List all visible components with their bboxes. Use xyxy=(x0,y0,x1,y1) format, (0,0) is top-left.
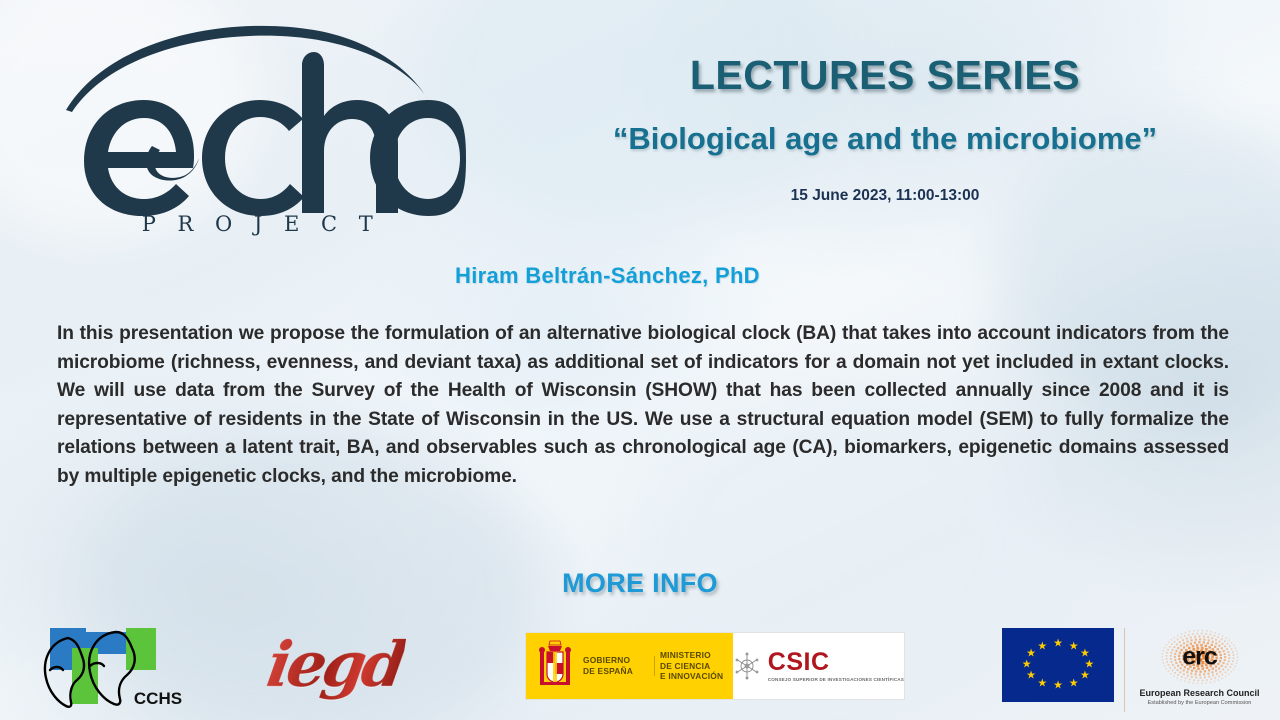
ministerio-line2: DE CIENCIA xyxy=(660,661,723,672)
erc-dot-burst-icon: erc xyxy=(1154,628,1246,686)
csic-title: CSIC xyxy=(768,650,904,675)
erc-block: erc European Research Council Establishe… xyxy=(1135,628,1264,706)
ministerio-line3: E INNOVACIÓN xyxy=(660,671,723,682)
gobierno-line1: GOBIERNO xyxy=(583,655,654,666)
ministerio-line1: MINISTERIO xyxy=(660,650,723,661)
echo-logo-subtitle: P R O J E C T xyxy=(142,212,381,236)
csic-emblem-icon xyxy=(733,651,761,681)
more-info-block[interactable]: MORE INFO xyxy=(0,568,1280,599)
gobierno-divider xyxy=(654,656,655,676)
abstract-paragraph: In this presentation we propose the form… xyxy=(57,320,1229,492)
more-info-label[interactable]: MORE INFO xyxy=(562,568,718,598)
erc-divider xyxy=(1124,628,1125,712)
eu-flag-icon: ★ ★ ★ ★ ★ ★ ★ ★ ★ ★ ★ ★ xyxy=(1002,628,1114,702)
erc-name: European Research Council xyxy=(1135,688,1264,698)
gobierno-block: GOBIERNO DE ESPAÑA MINISTERIO DE CIENCIA… xyxy=(526,633,733,699)
iegd-label: iegd xyxy=(262,628,407,701)
talk-title: “Biological age and the microbiome” xyxy=(500,121,1270,157)
speaker-name: Hiram Beltrán-Sánchez, PhD xyxy=(455,263,760,289)
echo-project-logo: P R O J E C T xyxy=(56,18,466,238)
eu-erc-logo: ★ ★ ★ ★ ★ ★ ★ ★ ★ ★ ★ ★ erc xyxy=(1002,628,1264,712)
cchs-logo: CCHS xyxy=(28,622,203,714)
csic-subtitle: CONSEJO SUPERIOR DE INVESTIGACIONES CIEN… xyxy=(768,677,904,682)
iegd-logo: iegd xyxy=(268,628,418,714)
csic-block: CSIC CONSEJO SUPERIOR DE INVESTIGACIONES… xyxy=(733,633,904,699)
footer-logos: CCHS iegd xyxy=(0,612,1280,720)
lectures-series-title: LECTURES SERIES xyxy=(500,52,1270,99)
gobierno-line2: DE ESPAÑA xyxy=(583,666,654,677)
poster-canvas: P R O J E C T LECTURES SERIES “Biologica… xyxy=(0,0,1280,720)
erc-subtitle: Established by the European Commission xyxy=(1135,700,1264,706)
event-datetime: 15 June 2023, 11:00-13:00 xyxy=(500,187,1270,205)
erc-wordmark: erc xyxy=(1182,643,1217,672)
gobierno-csic-logo: GOBIERNO DE ESPAÑA MINISTERIO DE CIENCIA… xyxy=(525,632,905,700)
spain-coat-of-arms-icon xyxy=(534,638,576,694)
cchs-label: CCHS xyxy=(134,689,182,708)
header-block: LECTURES SERIES “Biological age and the … xyxy=(500,52,1270,205)
